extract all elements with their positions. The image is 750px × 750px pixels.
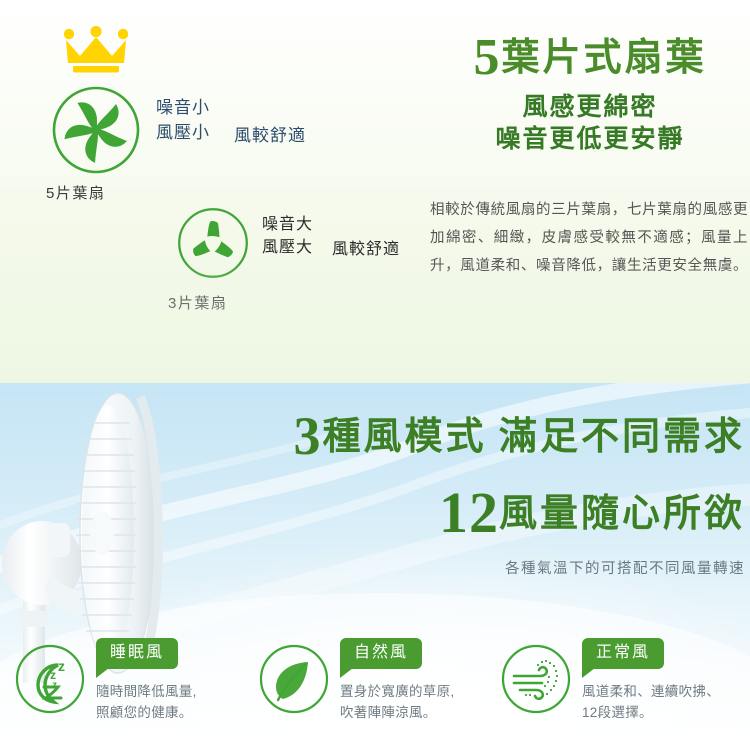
three-blade-spec-noise: 噪音大	[262, 213, 313, 236]
top-headline: 5葉片式扇葉	[430, 26, 750, 86]
top-subheadline-line1: 風感更綿密	[420, 92, 750, 124]
bottom-headline-modes-number: 3	[293, 406, 322, 466]
bottom-headline-speeds-number: 12	[439, 480, 499, 545]
bottom-headline-speeds: 12風量隨心所欲	[200, 479, 745, 546]
three-blade-result: 風較舒適	[332, 235, 400, 259]
top-subheadline-line2: 噪音更低更安靜	[420, 124, 750, 156]
wind-icon	[500, 643, 572, 715]
bottom-headline-speeds-text: 風量隨心所欲	[499, 493, 745, 535]
three-blade-spec-pressure: 風壓大	[262, 236, 313, 259]
product-feature-page: 5片葉扇 噪音小 風壓小 風較舒適	[0, 0, 750, 750]
wind-mode-desc-natural: 置身於寬廣的草原, 吹著陣陣涼風。	[340, 681, 508, 723]
five-blade-caption: 5片葉扇	[46, 182, 105, 203]
wind-mode-desc-normal-line1: 風道柔和、連續吹拂、	[582, 681, 750, 702]
bottom-headline-modes-text: 種風模式 滿足不同需求	[322, 416, 745, 458]
top-headline-number: 5	[473, 29, 501, 86]
three-blade-fan-icon	[176, 206, 250, 280]
three-blade-specs: 噪音大 風壓大 風較舒適	[262, 213, 313, 259]
wind-mode-label-sleep: 睡眠風	[96, 638, 178, 669]
svg-text:z: z	[52, 680, 57, 691]
wind-mode-desc-sleep-line2: 照顧您的健康。	[96, 702, 264, 723]
wind-mode-card-sleep[interactable]: z z z 睡眠風 隨時間降低風量, 照顧您的健康。	[14, 638, 264, 748]
bottom-subtitle: 各種氣溫下的可搭配不同風量轉速	[200, 557, 745, 578]
wind-mode-body-natural: 自然風 置身於寬廣的草原, 吹著陣陣涼風。	[340, 638, 508, 723]
five-blade-section: 5片葉扇 噪音小 風壓小 風較舒適	[0, 0, 750, 383]
wind-mode-desc-sleep-line1: 隨時間降低風量,	[96, 681, 264, 702]
svg-text:z: z	[58, 658, 65, 674]
three-blade-caption: 3片葉扇	[168, 292, 227, 313]
wind-modes-section: 3種風模式 滿足不同需求 12風量隨心所欲 各種氣溫下的可搭配不同風量轉速 z …	[0, 383, 750, 750]
wind-mode-card-normal[interactable]: 正常風 風道柔和、連續吹拂、 12段選擇。	[500, 638, 750, 748]
five-blade-spec-noise: 噪音小	[156, 95, 210, 120]
wind-mode-desc-natural-line2: 吹著陣陣涼風。	[340, 702, 508, 723]
five-blade-spec-pressure: 風壓小	[156, 120, 210, 145]
moon-sleep-icon: z z z	[14, 643, 86, 715]
crown-icon	[60, 26, 132, 74]
wind-mode-card-natural[interactable]: 自然風 置身於寬廣的草原, 吹著陣陣涼風。	[258, 638, 508, 748]
wind-mode-body-normal: 正常風 風道柔和、連續吹拂、 12段選擇。	[582, 638, 750, 723]
top-headline-text: 葉片式扇葉	[501, 37, 706, 79]
top-paragraph: 相較於傳統風扇的三片葉扇，七片葉扇的風感更加綿密、細緻，皮膚感受較無不適感；風量…	[430, 196, 748, 280]
wind-mode-desc-normal: 風道柔和、連續吹拂、 12段選擇。	[582, 681, 750, 723]
five-blade-copy-block: 5葉片式扇葉 風感更綿密 噪音更低更安靜 相較於傳統風扇的三片葉扇，七片葉扇的風…	[420, 0, 750, 383]
top-subheadline: 風感更綿密 噪音更低更安靜	[420, 92, 750, 156]
wind-mode-body-sleep: 睡眠風 隨時間降低風量, 照顧您的健康。	[96, 638, 264, 723]
wind-mode-label-normal: 正常風	[582, 638, 664, 669]
wind-mode-label-natural: 自然風	[340, 638, 422, 669]
five-blade-result: 風較舒適	[234, 121, 306, 146]
bottom-headline-modes: 3種風模式 滿足不同需求	[200, 405, 745, 467]
five-blade-fan-icon	[50, 84, 142, 176]
wind-mode-desc-normal-line2: 12段選擇。	[582, 702, 750, 723]
wind-mode-desc-natural-line1: 置身於寬廣的草原,	[340, 681, 508, 702]
wind-mode-card-list: z z z 睡眠風 隨時間降低風量, 照顧您的健康。	[0, 638, 750, 750]
leaf-icon	[258, 643, 330, 715]
five-blade-specs: 噪音小 風壓小 風較舒適	[156, 95, 210, 145]
wind-mode-desc-sleep: 隨時間降低風量, 照顧您的健康。	[96, 681, 264, 723]
